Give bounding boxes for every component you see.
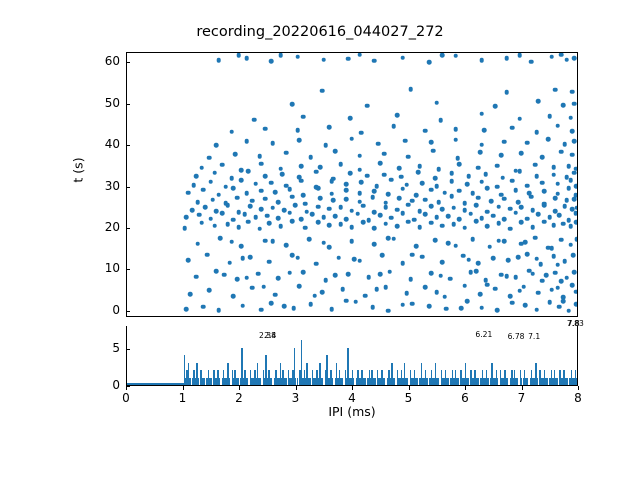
scatter-point xyxy=(434,100,439,105)
scatter-point xyxy=(312,293,317,298)
histogram-bar xyxy=(507,378,508,386)
scatter-point xyxy=(372,226,377,231)
scatter-point xyxy=(350,208,355,213)
scatter-point xyxy=(261,284,266,289)
x-axis-tick: 2 xyxy=(239,386,240,387)
scatter-point xyxy=(372,189,377,194)
scatter-point xyxy=(290,253,295,258)
x-axis-label: IPI (ms) xyxy=(126,404,578,419)
scatter-point xyxy=(195,200,200,205)
scatter-point xyxy=(250,285,255,290)
scatter-point xyxy=(220,163,225,168)
histogram-bar xyxy=(247,378,248,386)
scatter-point xyxy=(378,161,383,166)
scatter-point xyxy=(414,193,419,198)
tick-mark xyxy=(126,311,130,312)
scatter-point xyxy=(391,236,396,241)
scatter-point xyxy=(350,136,355,141)
scatter-point xyxy=(508,226,513,231)
scatter-point xyxy=(474,269,479,274)
scatter-point xyxy=(378,272,383,277)
y-axis-label: t (s) xyxy=(71,157,86,182)
scatter-point xyxy=(476,261,481,266)
scatter-point xyxy=(222,272,227,277)
scatter-point xyxy=(513,211,518,216)
scatter-point xyxy=(383,221,388,226)
scatter-point xyxy=(483,172,488,177)
scatter-point xyxy=(333,273,338,278)
scatter-point xyxy=(344,217,349,222)
scatter-point xyxy=(429,187,434,192)
scatter-point xyxy=(496,204,501,209)
scatter-point xyxy=(256,271,261,276)
scatter-point xyxy=(239,178,244,183)
scatter-point xyxy=(470,237,475,242)
scatter-point xyxy=(304,209,309,214)
scatter-point xyxy=(254,215,259,220)
tick-mark xyxy=(126,349,130,350)
histogram-y-tick: 5 xyxy=(0,349,126,350)
scatter-point xyxy=(270,206,275,211)
scatter-point xyxy=(191,183,196,188)
x-axis-tick: 7 xyxy=(522,386,523,387)
scatter-point xyxy=(361,220,366,225)
scatter-point xyxy=(303,225,308,230)
scatter-point xyxy=(574,289,578,294)
histogram-bar xyxy=(566,378,567,386)
scatter-point xyxy=(307,237,312,242)
scatter-point xyxy=(216,192,221,197)
scatter-point xyxy=(527,191,532,196)
scatter-point xyxy=(547,114,552,119)
scatter-point xyxy=(284,243,289,248)
scatter-point xyxy=(372,242,377,247)
scatter-point xyxy=(519,151,524,156)
scatter-point xyxy=(208,216,213,221)
scatter-point xyxy=(259,189,264,194)
scatter-point xyxy=(383,205,388,210)
scatter-point xyxy=(184,215,189,220)
tick-mark xyxy=(352,386,353,390)
scatter-point xyxy=(194,274,199,279)
histogram-bar xyxy=(407,378,408,386)
scatter-point xyxy=(376,141,381,146)
scatter-point xyxy=(510,300,515,305)
scatter-point xyxy=(382,172,387,177)
scatter-point xyxy=(237,210,242,215)
scatter-point xyxy=(499,192,504,197)
scatter-point xyxy=(290,102,295,107)
scatter-point xyxy=(280,172,285,177)
tick-mark xyxy=(296,386,297,390)
scatter-point xyxy=(333,149,338,154)
histogram-bar xyxy=(353,378,354,386)
scatter-point xyxy=(257,154,262,159)
scatter-point xyxy=(338,162,343,167)
scatter-point xyxy=(513,168,518,173)
scatter-point xyxy=(269,301,274,306)
scatter-point xyxy=(267,259,272,264)
scatter-point xyxy=(567,218,572,223)
scatter-point xyxy=(572,139,577,144)
peak-annotation: 6.21 xyxy=(475,330,492,339)
scatter-point xyxy=(320,88,325,93)
scatter-point xyxy=(239,244,244,249)
histogram-bar xyxy=(426,378,427,386)
peak-annotation: 7.1 xyxy=(528,332,540,341)
scatter-point xyxy=(568,242,573,247)
scatter-point xyxy=(440,53,445,58)
scatter-point xyxy=(297,138,302,143)
scatter-point xyxy=(559,279,564,284)
scatter-point xyxy=(521,284,526,289)
tick-mark xyxy=(126,62,130,63)
scatter-point xyxy=(270,141,275,146)
y-axis-tick: 30 xyxy=(0,187,126,188)
scatter-point xyxy=(555,182,560,187)
scatter-point xyxy=(454,243,459,248)
scatter-point xyxy=(525,141,530,146)
scatter-point xyxy=(519,205,524,210)
scatter-point xyxy=(214,143,219,148)
scatter-point xyxy=(365,103,370,108)
scatter-point xyxy=(195,242,200,247)
scatter-point xyxy=(574,166,578,171)
histogram-bar xyxy=(467,378,468,386)
peak-annotation: 7.8 xyxy=(568,319,580,328)
scatter-point xyxy=(420,181,425,186)
scatter-point xyxy=(273,293,278,298)
scatter-point xyxy=(429,140,434,145)
scatter-point xyxy=(410,301,415,306)
scatter-point xyxy=(282,208,287,213)
scatter-point xyxy=(438,273,443,278)
scatter-point xyxy=(542,201,547,206)
scatter-point xyxy=(489,199,494,204)
scatter-point xyxy=(550,246,555,251)
scatter-point xyxy=(188,292,193,297)
scatter-point xyxy=(555,285,560,290)
scatter-point xyxy=(387,269,392,274)
x-axis-tick: 4 xyxy=(352,386,353,387)
scatter-point xyxy=(427,60,432,65)
scatter-point xyxy=(519,220,524,225)
scatter-point xyxy=(546,137,551,142)
scatter-point xyxy=(485,209,490,214)
scatter-point xyxy=(182,226,187,231)
histogram-bar xyxy=(332,378,333,386)
scatter-point xyxy=(406,219,411,224)
scatter-point xyxy=(225,222,230,227)
scatter-point xyxy=(568,178,573,183)
scatter-point xyxy=(257,226,262,231)
histogram-bar xyxy=(210,378,211,386)
scatter-point xyxy=(496,238,501,243)
scatter-point xyxy=(301,270,306,275)
scatter-point xyxy=(244,56,249,61)
tick-mark xyxy=(126,187,130,188)
histogram-bar xyxy=(547,378,548,386)
scatter-point xyxy=(365,173,370,178)
scatter-point xyxy=(346,272,351,277)
scatter-point xyxy=(395,113,400,118)
scatter-point xyxy=(186,190,191,195)
scatter-point xyxy=(502,217,507,222)
y-tick-label: 20 xyxy=(105,220,120,234)
scatter-point xyxy=(568,115,573,120)
scatter-point xyxy=(536,99,541,104)
histogram-bar xyxy=(537,378,538,386)
scatter-point xyxy=(278,53,283,58)
scatter-point xyxy=(397,196,402,201)
scatter-point xyxy=(572,101,577,106)
scatter-point xyxy=(357,199,362,204)
scatter-point xyxy=(487,244,492,249)
scatter-point xyxy=(357,259,362,264)
scatter-point xyxy=(212,170,217,175)
scatter-point xyxy=(211,197,216,202)
scatter-point xyxy=(400,187,405,192)
scatter-point xyxy=(410,252,415,257)
scatter-point xyxy=(321,215,326,220)
scatter-point xyxy=(553,88,558,93)
scatter-point xyxy=(440,223,445,228)
scatter-point xyxy=(423,285,428,290)
scatter-point xyxy=(316,220,321,225)
scatter-point xyxy=(354,300,359,305)
scatter-point xyxy=(278,166,283,171)
scatter-point xyxy=(570,153,575,158)
scatter-point xyxy=(314,261,319,266)
scatter-point xyxy=(467,257,472,262)
scatter-point xyxy=(478,150,483,155)
scatter-point xyxy=(454,137,459,142)
scatter-point xyxy=(295,255,300,260)
scatter-point xyxy=(399,175,404,180)
scatter-point xyxy=(320,290,325,295)
scatter-point xyxy=(367,275,372,280)
scatter-point xyxy=(504,90,509,95)
scatter-point xyxy=(463,283,468,288)
scatter-point xyxy=(382,151,387,156)
tick-mark xyxy=(465,386,466,390)
scatter-point xyxy=(534,256,539,261)
scatter-point xyxy=(423,212,428,217)
scatter-point xyxy=(434,215,439,220)
scatter-point xyxy=(495,184,500,189)
scatter-point xyxy=(442,295,447,300)
scatter-point xyxy=(391,124,396,129)
scatter-point xyxy=(474,219,479,224)
scatter-point xyxy=(482,128,487,133)
scatter-point xyxy=(254,182,259,187)
scatter-point xyxy=(550,54,555,59)
scatter-point xyxy=(429,204,434,209)
histogram-bar xyxy=(374,378,375,386)
scatter-point xyxy=(534,130,539,135)
scatter-point xyxy=(197,213,202,218)
scatter-point xyxy=(563,259,568,264)
scatter-point xyxy=(327,125,332,130)
scatter-point xyxy=(571,253,576,258)
scatter-point xyxy=(513,188,518,193)
scatter-point xyxy=(454,54,459,59)
scatter-point xyxy=(572,56,577,61)
scatter-point xyxy=(406,154,411,159)
histogram-bar xyxy=(497,378,498,386)
scatter-point xyxy=(446,241,451,246)
scatter-point xyxy=(572,197,577,202)
scatter-point xyxy=(329,191,334,196)
histogram-bar xyxy=(342,378,343,386)
scatter-point xyxy=(416,170,421,175)
scatter-point xyxy=(265,213,270,218)
scatter-point xyxy=(357,52,362,57)
y-tick-label: 40 xyxy=(105,137,120,151)
scatter-point xyxy=(246,169,251,174)
scatter-point xyxy=(327,245,332,250)
scatter-point xyxy=(480,112,485,117)
scatter-point xyxy=(513,275,518,280)
peak-annotation: 2.4 xyxy=(264,331,276,340)
scatter-point xyxy=(517,169,522,174)
histogram-bar xyxy=(237,378,238,386)
scatter-point xyxy=(321,57,326,62)
scatter-point xyxy=(567,164,572,169)
scatter-point xyxy=(551,223,556,228)
scatter-point xyxy=(467,174,472,179)
histogram-baseline xyxy=(127,383,184,385)
scatter-point xyxy=(201,305,206,310)
scatter-point xyxy=(468,270,473,275)
scatter-point xyxy=(480,216,485,221)
scatter-point xyxy=(378,213,383,218)
scatter-point xyxy=(372,210,377,215)
page-title: recording_20220616_044027_272 xyxy=(0,24,640,40)
scatter-point xyxy=(297,284,302,289)
scatter-point xyxy=(374,287,379,292)
scatter-point xyxy=(540,155,545,160)
scatter-point xyxy=(241,303,246,308)
scatter-point xyxy=(287,211,292,216)
scatter-point xyxy=(434,184,439,189)
scatter-point xyxy=(570,89,575,94)
scatter-point xyxy=(427,304,432,309)
scatter-point xyxy=(437,167,442,172)
scatter-point xyxy=(500,175,505,180)
scatter-point xyxy=(574,302,578,307)
scatter-point xyxy=(216,308,221,313)
scatter-point xyxy=(529,59,534,64)
x-axis-tick: 3 xyxy=(296,386,297,387)
scatter-point xyxy=(470,191,475,196)
scatter-point xyxy=(267,221,272,226)
y-axis-tick: 40 xyxy=(0,145,126,146)
scatter-point xyxy=(485,186,490,191)
scatter-point xyxy=(224,201,229,206)
scatter-point xyxy=(480,58,485,63)
scatter-point xyxy=(397,166,402,171)
scatter-point xyxy=(476,165,481,170)
scatter-point xyxy=(244,276,249,281)
scatter-point xyxy=(229,240,234,245)
scatter-point xyxy=(248,255,253,260)
histogram-bar xyxy=(364,378,365,386)
scatter-point xyxy=(555,124,560,129)
scatter-point xyxy=(386,192,391,197)
scatter-point xyxy=(530,225,535,230)
scatter-point xyxy=(316,204,321,209)
scatter-point xyxy=(228,260,233,265)
scatter-point xyxy=(417,164,422,169)
scatter-point xyxy=(231,186,236,191)
ipi-raster-panel xyxy=(126,52,578,317)
scatter-point xyxy=(533,235,538,240)
histogram-bar xyxy=(517,378,518,386)
scatter-point xyxy=(290,194,295,199)
scatter-point xyxy=(493,104,498,109)
scatter-point xyxy=(380,253,385,258)
histogram-y-tick-label: 5 xyxy=(112,341,120,355)
scatter-point xyxy=(468,211,473,216)
scatter-point xyxy=(502,239,507,244)
scatter-point xyxy=(284,150,289,155)
scatter-point xyxy=(241,256,246,261)
tick-mark xyxy=(126,386,127,390)
scatter-point xyxy=(250,199,255,204)
scatter-point xyxy=(395,207,400,212)
scatter-point xyxy=(525,252,530,257)
scatter-point xyxy=(400,261,405,266)
scatter-point xyxy=(344,197,349,202)
scatter-point xyxy=(476,195,481,200)
scatter-point xyxy=(303,201,308,206)
scatter-point xyxy=(451,222,456,227)
scatter-point xyxy=(408,277,413,282)
scatter-point xyxy=(440,207,445,212)
scatter-point xyxy=(544,273,549,278)
scatter-point xyxy=(414,244,419,249)
scatter-point xyxy=(561,221,566,226)
scatter-point xyxy=(400,55,405,60)
x-tick-label: 4 xyxy=(332,391,372,405)
scatter-point xyxy=(220,211,225,216)
scatter-point xyxy=(455,156,460,161)
scatter-point xyxy=(559,52,564,57)
scatter-point xyxy=(214,209,219,214)
histogram-bar xyxy=(487,378,488,386)
scatter-point xyxy=(301,114,306,119)
scatter-point xyxy=(463,201,468,206)
scatter-point xyxy=(564,175,569,180)
x-axis-tick: 8 xyxy=(578,386,579,387)
histogram-bar xyxy=(285,378,286,386)
scatter-point xyxy=(350,225,355,230)
histogram-bar xyxy=(458,378,459,386)
scatter-point xyxy=(308,302,313,307)
scatter-point xyxy=(367,218,372,223)
scatter-point xyxy=(465,299,470,304)
scatter-point xyxy=(561,103,566,108)
scatter-point xyxy=(540,180,545,185)
scatter-point xyxy=(237,53,242,58)
scatter-point xyxy=(574,220,578,225)
scatter-point xyxy=(438,118,443,123)
scatter-point xyxy=(504,274,509,279)
scatter-point xyxy=(551,254,556,259)
scatter-point xyxy=(329,307,334,312)
scatter-point xyxy=(517,53,522,58)
